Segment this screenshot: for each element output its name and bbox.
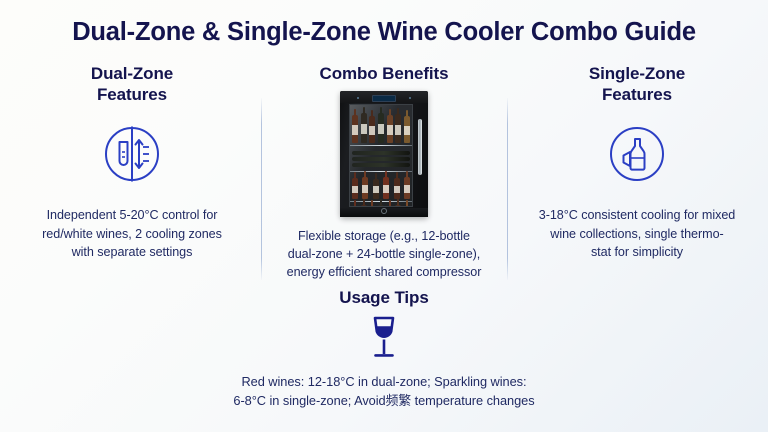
wine-cooler-photo [340, 91, 428, 217]
dual-zone-icon-wrap [8, 123, 256, 190]
column-heading-line2: Features [8, 85, 256, 106]
column-single-zone: Single-Zone Features 3-18°C consistent c… [512, 64, 762, 262]
column-heading-line2: Features [512, 85, 762, 106]
usage-tips-line2-cjk: 频繁 [386, 394, 412, 409]
cooler-base-panel [340, 208, 428, 217]
cooler-shelf-4-bottles [352, 204, 410, 207]
column-body-dual-zone: Independent 5-20°C control for red/white… [8, 206, 256, 261]
column-body-single-zone: 3-18°C consistent cooling for mixed wine… [512, 206, 762, 261]
wine-cooler-photo-wrap [266, 91, 502, 217]
column-body-line1: 3-18°C consistent cooling for mixed [512, 206, 762, 224]
cooler-shelf-1 [350, 145, 412, 147]
column-combo-benefits: Combo Benefits [266, 64, 502, 282]
cooler-shelf-1-bottles [352, 111, 410, 143]
page-title: Dual-Zone & Single-Zone Wine Cooler Comb… [0, 18, 768, 47]
column-divider-right [507, 98, 508, 280]
column-heading-line1: Dual-Zone [8, 64, 256, 85]
usage-tips-line1: Red wines: 12-18°C in dual-zone; Sparkli… [0, 373, 768, 392]
usage-tips-icon-wrap [0, 314, 768, 365]
column-heading-single-zone: Single-Zone Features [512, 64, 762, 105]
column-body-line2: dual-zone + 24-bottle single-zone), [266, 245, 502, 263]
column-body-line1: Independent 5-20°C control for [8, 206, 256, 224]
usage-tips-heading: Usage Tips [0, 288, 768, 308]
usage-tips-line2-pre: 6-8°C in single-zone; Avoid [233, 393, 385, 408]
cooler-led-left-icon [357, 97, 359, 99]
column-divider-left [261, 98, 262, 280]
column-body-line1: Flexible storage (e.g., 12-bottle [266, 227, 502, 245]
single-zone-icon-wrap [512, 123, 762, 190]
column-body-line3: with separate settings [8, 243, 256, 261]
wine-glass-icon [364, 314, 404, 365]
cooler-lock-icon [381, 208, 387, 214]
cooler-led-right-icon [409, 97, 411, 99]
cooler-glass-door [349, 104, 413, 207]
cooler-shelf-2-bottles [352, 149, 410, 169]
column-heading-dual-zone: Dual-Zone Features [8, 64, 256, 105]
cooler-display-icon [372, 95, 396, 102]
usage-tips-section: Usage Tips Red wines: 12-18°C in dual-zo… [0, 288, 768, 412]
cooler-shelf-2 [350, 171, 412, 173]
column-heading-line1: Combo Benefits [266, 64, 502, 85]
column-body-line3: stat for simplicity [512, 243, 762, 261]
column-dual-zone: Dual-Zone Features [8, 64, 256, 262]
column-body-combo-benefits: Flexible storage (e.g., 12-bottle dual-z… [266, 227, 502, 282]
usage-tips-body: Red wines: 12-18°C in dual-zone; Sparkli… [0, 373, 768, 412]
usage-tips-line2: 6-8°C in single-zone; Avoid频繁 temperatur… [0, 392, 768, 412]
dual-zone-thermometer-icon [101, 123, 163, 190]
cooler-door-handle [418, 119, 422, 175]
wine-bottle-icon [606, 123, 668, 190]
column-body-line2: wine collections, single thermo- [512, 225, 762, 243]
column-body-line3: energy efficient shared compressor [266, 263, 502, 281]
slide-canvas: Dual-Zone & Single-Zone Wine Cooler Comb… [0, 0, 768, 432]
column-heading-combo-benefits: Combo Benefits [266, 64, 502, 85]
column-body-line2: red/white wines, 2 cooling zones [8, 225, 256, 243]
cooler-shelf-3-bottles [352, 175, 410, 199]
column-heading-line1: Single-Zone [512, 64, 762, 85]
usage-tips-line2-post: temperature changes [411, 393, 535, 408]
